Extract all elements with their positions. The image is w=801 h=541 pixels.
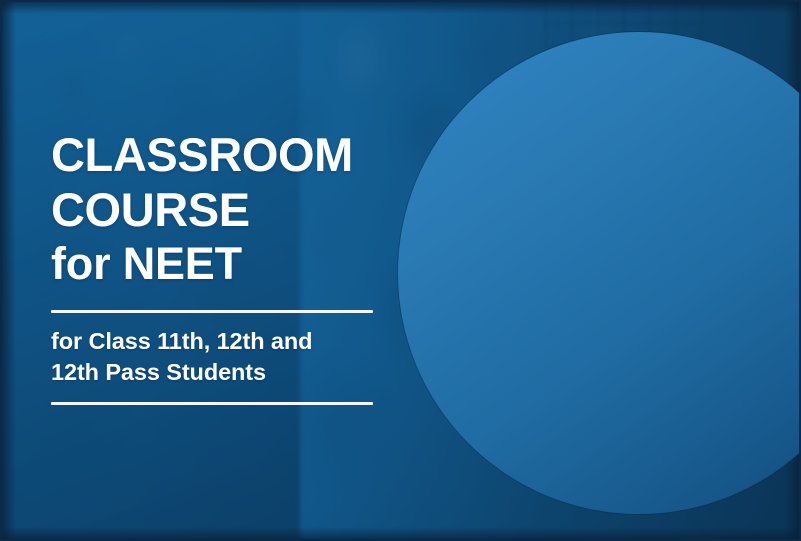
- banner-headline: CLASSROOM COURSE for NEET: [51, 128, 391, 291]
- banner-subheadline: for Class 11th, 12th and 12th Pass Stude…: [51, 326, 391, 389]
- headline-line-3: for NEET: [51, 238, 391, 291]
- subheadline-line-1: for Class 11th, 12th and: [51, 326, 391, 357]
- headline-line-2: COURSE: [51, 183, 391, 238]
- divider-top: [51, 310, 373, 313]
- banner-text-block: CLASSROOM COURSE for NEET for Class 11th…: [51, 128, 391, 405]
- subheadline-line-2: 12th Pass Students: [51, 357, 391, 388]
- classroom-course-banner: CAREER POINT CLASSROOM COURSE for NEET f…: [0, 0, 801, 541]
- headline-line-1: CLASSROOM: [51, 128, 353, 181]
- divider-bottom: [51, 402, 373, 405]
